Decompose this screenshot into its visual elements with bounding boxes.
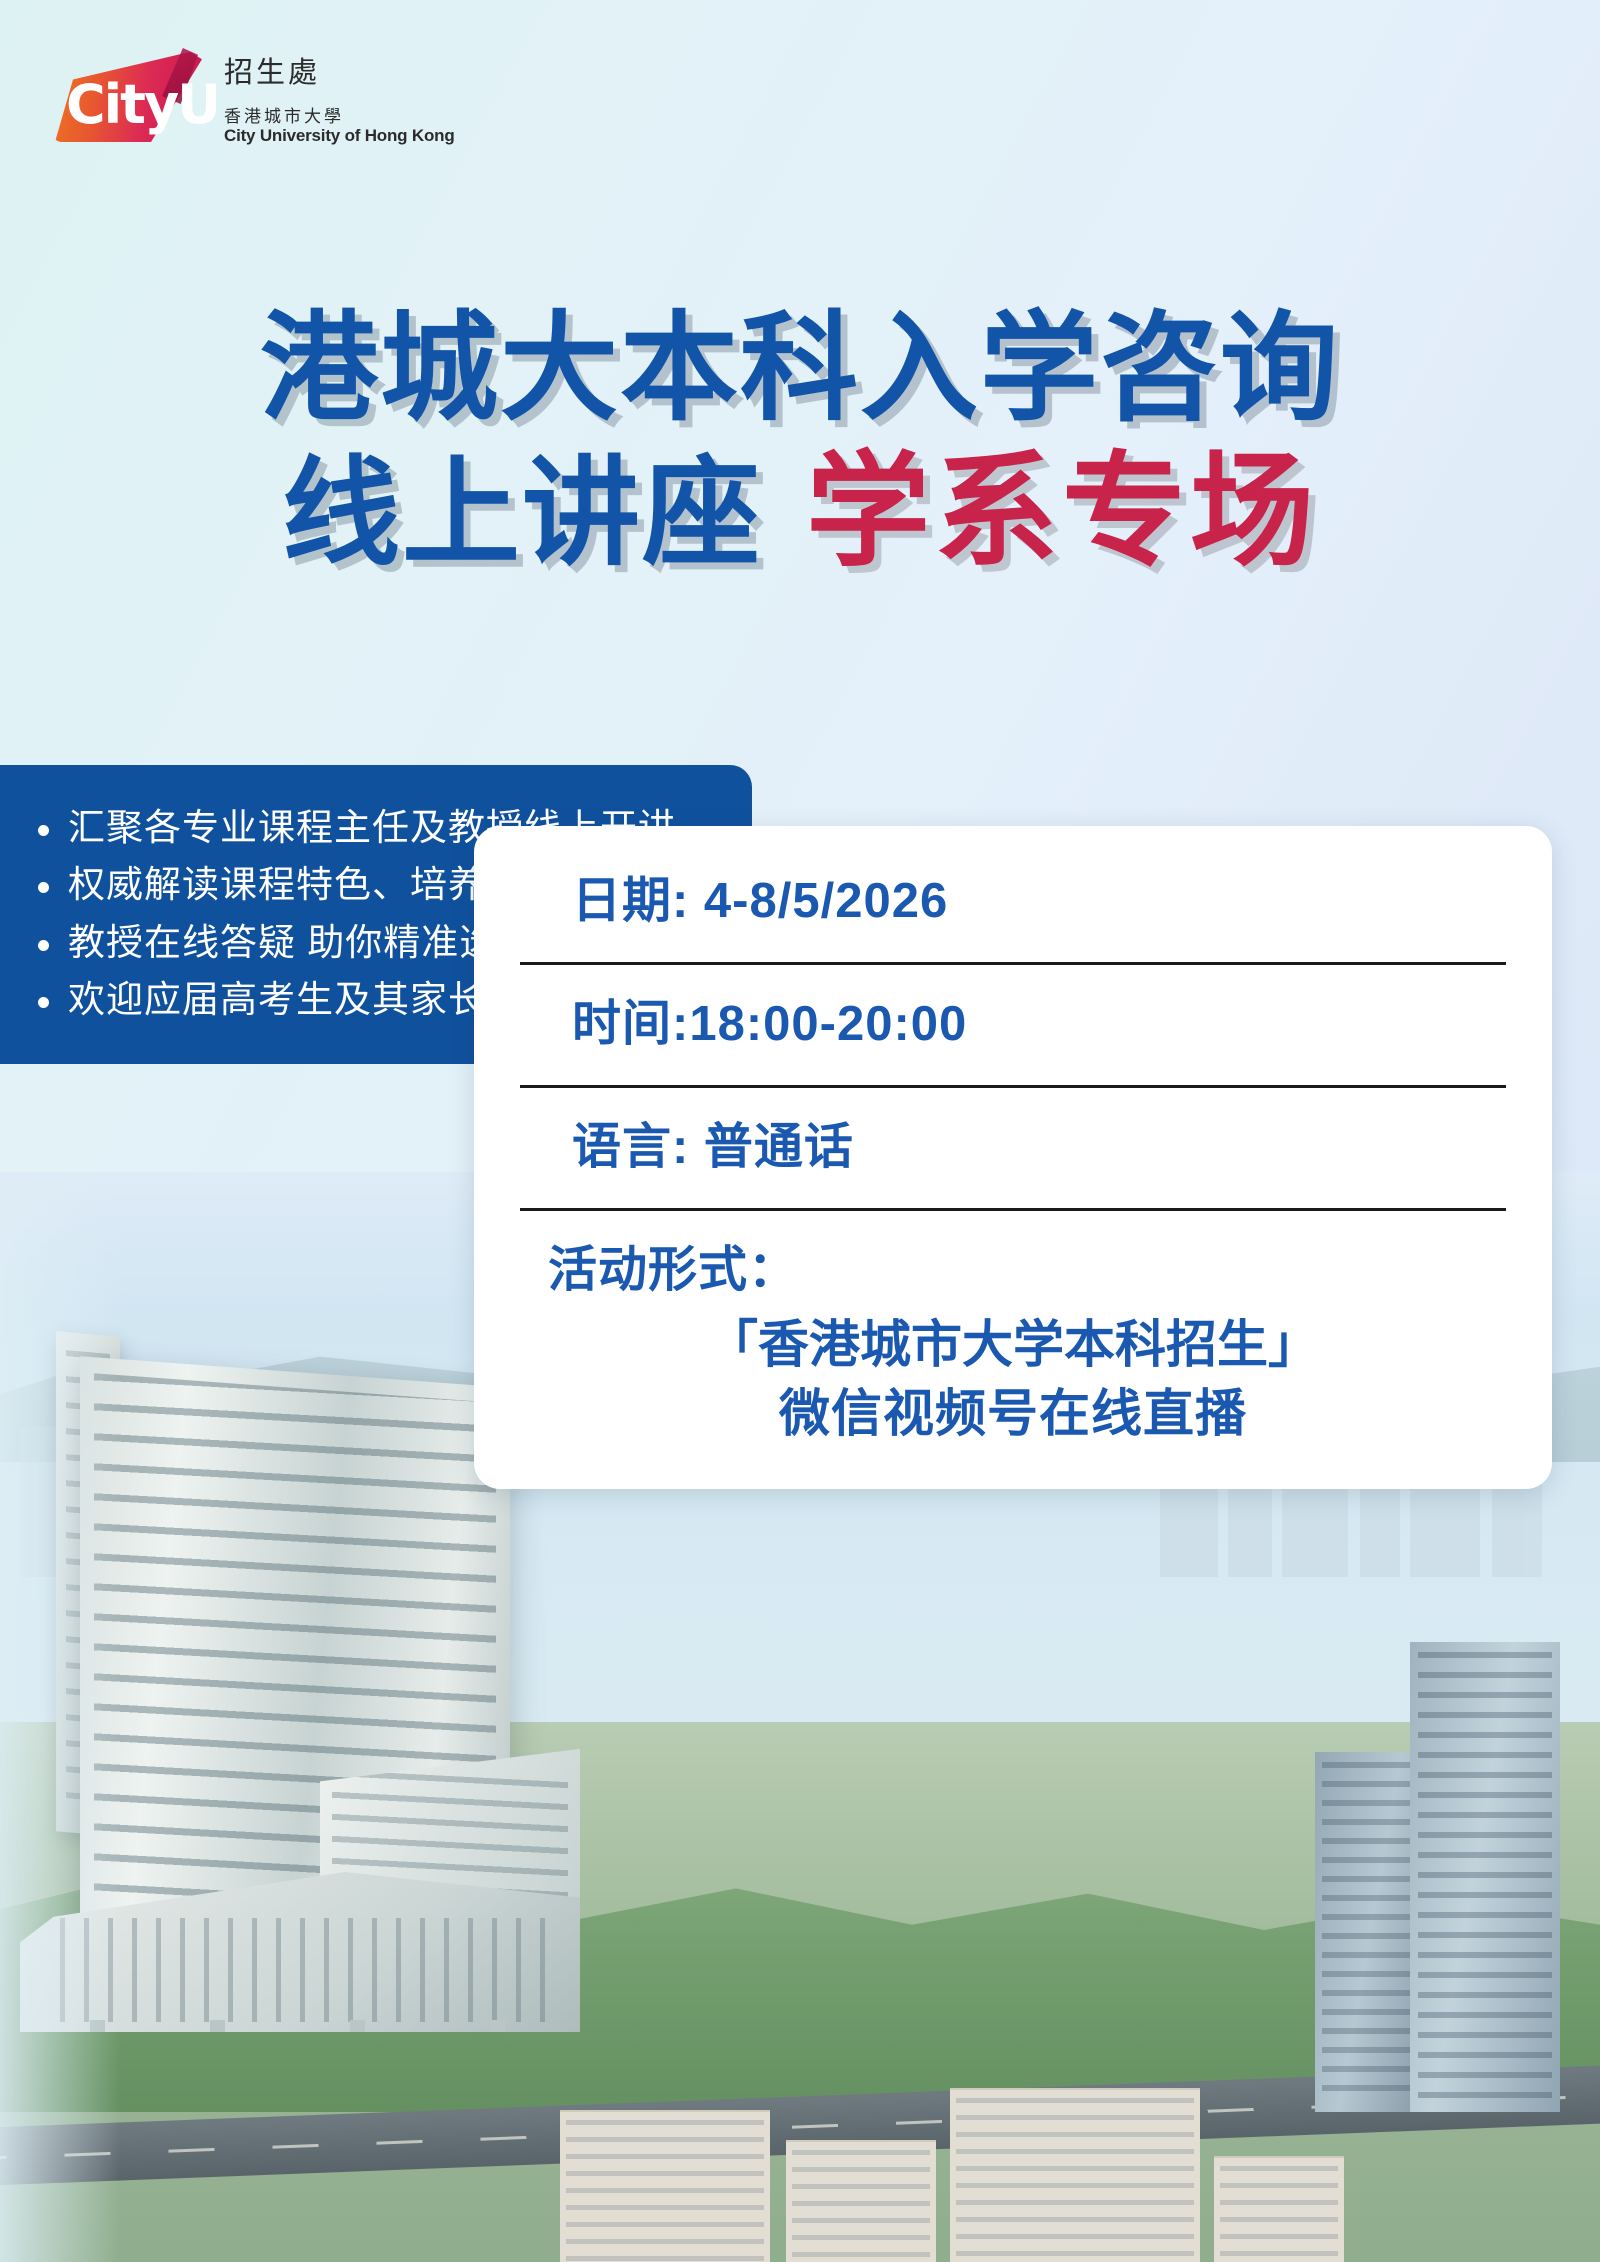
admissions-office-label: 招生處 [224,56,455,91]
background-tower-primary [1410,1642,1560,2112]
poster-root: CityU 招生處 香港城市大學 City University of Hong… [0,0,1600,2262]
event-language: 语言: 普通话 [520,1106,1506,1190]
divider [520,1085,1506,1088]
background-tower-secondary [1315,1752,1425,2112]
poster-headline: 港城大本科入学咨询 线上讲座 学系专场 [0,300,1600,586]
photo-left-fade [0,1172,120,2262]
headline-line-2-blue: 线上讲座 [282,445,762,584]
divider [520,1208,1506,1211]
event-format-channel: 「香港城市大学本科招生」 [520,1303,1506,1380]
cityu-logo-lockup: CityU 招生處 香港城市大學 City University of Hong… [52,42,455,147]
divider [520,962,1506,965]
logo-text-block: 招生處 香港城市大學 City University of Hong Kong [224,42,455,147]
event-format-platform: 微信视频号在线直播 [520,1380,1506,1449]
headline-line-2-red: 学系专场 [806,439,1318,585]
logo-wordmark: CityU [66,78,219,132]
university-name-cn: 香港城市大學 [224,107,455,127]
university-name-en: City University of Hong Kong [224,126,455,146]
event-format-label: 活动形式： [520,1229,1506,1303]
cityu-logo-icon: CityU [52,42,202,146]
headline-line-1: 港城大本科入学咨询 [260,300,1340,439]
event-details-card: 日期: 4-8/5/2026 时间:18:00-20:00 语言: 普通话 活动… [474,826,1552,1489]
event-time: 时间:18:00-20:00 [520,983,1506,1067]
event-date: 日期: 4-8/5/2026 [520,860,1506,944]
